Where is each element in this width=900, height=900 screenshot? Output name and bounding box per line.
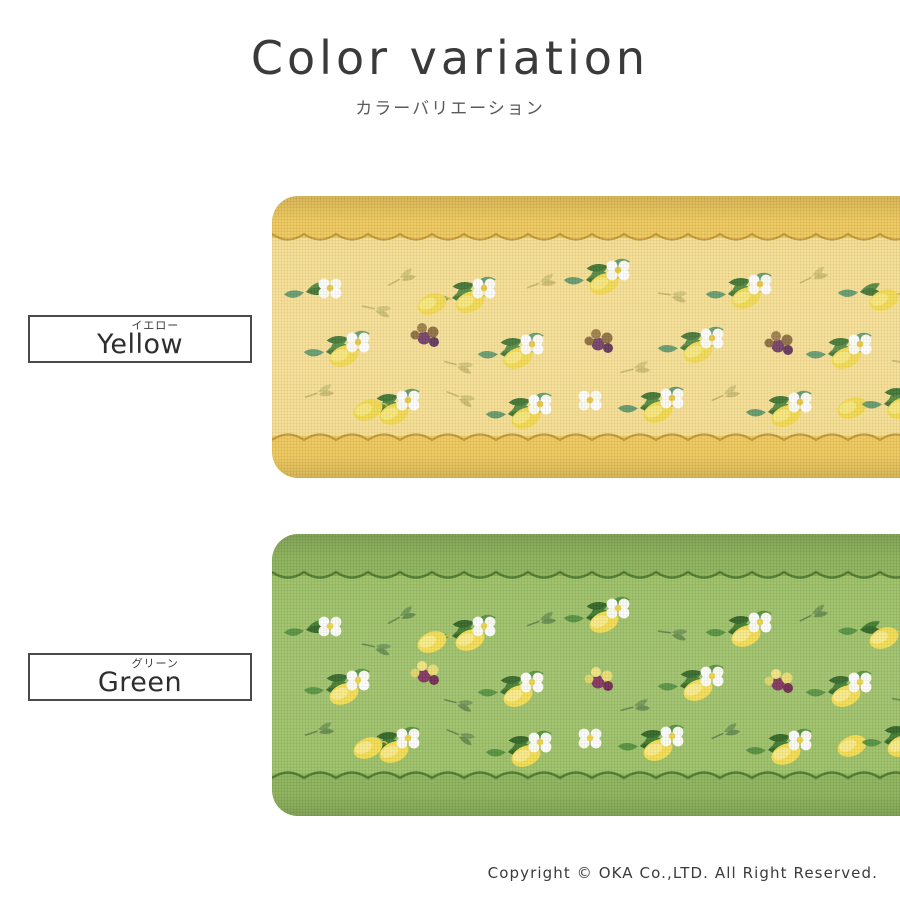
rug-swatch-yellow[interactable]: [272, 196, 900, 478]
color-label-name-green: Green: [98, 667, 182, 698]
color-label-yellow[interactable]: イエロー Yellow: [28, 315, 252, 363]
color-label-ruby-yellow: イエロー: [131, 317, 179, 333]
color-variation-row-yellow: イエロー Yellow: [0, 196, 900, 478]
color-label-ruby-green: グリーン: [131, 655, 178, 671]
color-variation-row-green: グリーン Green: [0, 534, 900, 816]
color-label-stack: イエロー Yellow: [97, 320, 183, 358]
page-header: Color variation カラーバリエーション: [0, 0, 900, 119]
color-label-stack: グリーン Green: [98, 658, 182, 696]
color-label-green[interactable]: グリーン Green: [28, 653, 252, 701]
rug-shading-green: [272, 534, 900, 816]
rug-swatch-green[interactable]: [272, 534, 900, 816]
page-footer: Copyright © OKA Co.,LTD. All Right Reser…: [0, 863, 900, 882]
rug-shading-yellow: [272, 196, 900, 478]
copyright-text: Copyright © OKA Co.,LTD. All Right Reser…: [488, 864, 878, 882]
page-subtitle: カラーバリエーション: [0, 82, 900, 119]
color-label-name-yellow: Yellow: [97, 329, 183, 360]
page-title: Color variation: [0, 0, 900, 82]
